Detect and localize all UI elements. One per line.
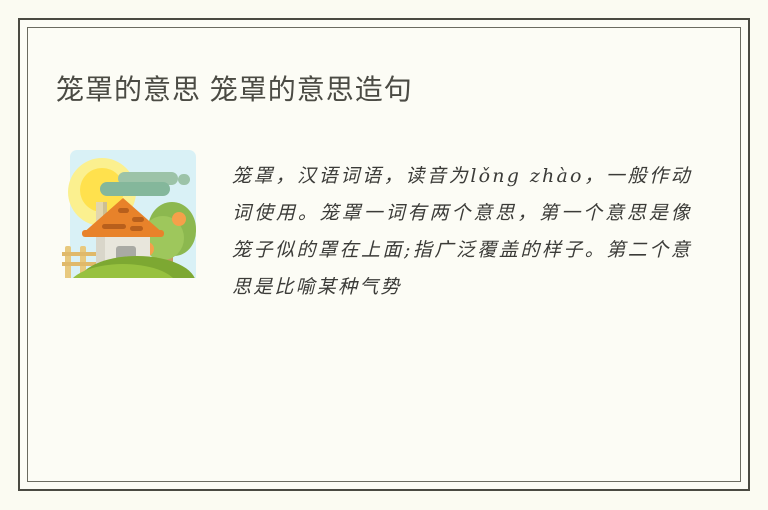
cloud-icon (178, 174, 190, 185)
roof-shingle (118, 208, 129, 213)
article-paragraph: 笼罩，汉语词语，读音为lǒng zhào，一般作动词使用。笼罩一词有两个意思，第… (232, 158, 692, 306)
roof-shingle (132, 217, 144, 222)
roof-shingle (130, 226, 143, 231)
house-roof-eave (82, 230, 164, 237)
fence-rail (62, 252, 96, 256)
cloud-icon (100, 182, 170, 196)
page-title: 笼罩的意思 笼罩的意思造句 (56, 70, 413, 110)
article-body: 笼罩，汉语词语，读音为lǒng zhào，一般作动词使用。笼罩一词有两个意思，第… (56, 146, 696, 406)
illustration-base (64, 278, 202, 294)
fruit-icon (172, 212, 186, 226)
house-landscape-illustration (56, 146, 204, 298)
page-root: 笼罩的意思 笼罩的意思造句 (0, 0, 768, 510)
roof-shingle (102, 224, 126, 229)
